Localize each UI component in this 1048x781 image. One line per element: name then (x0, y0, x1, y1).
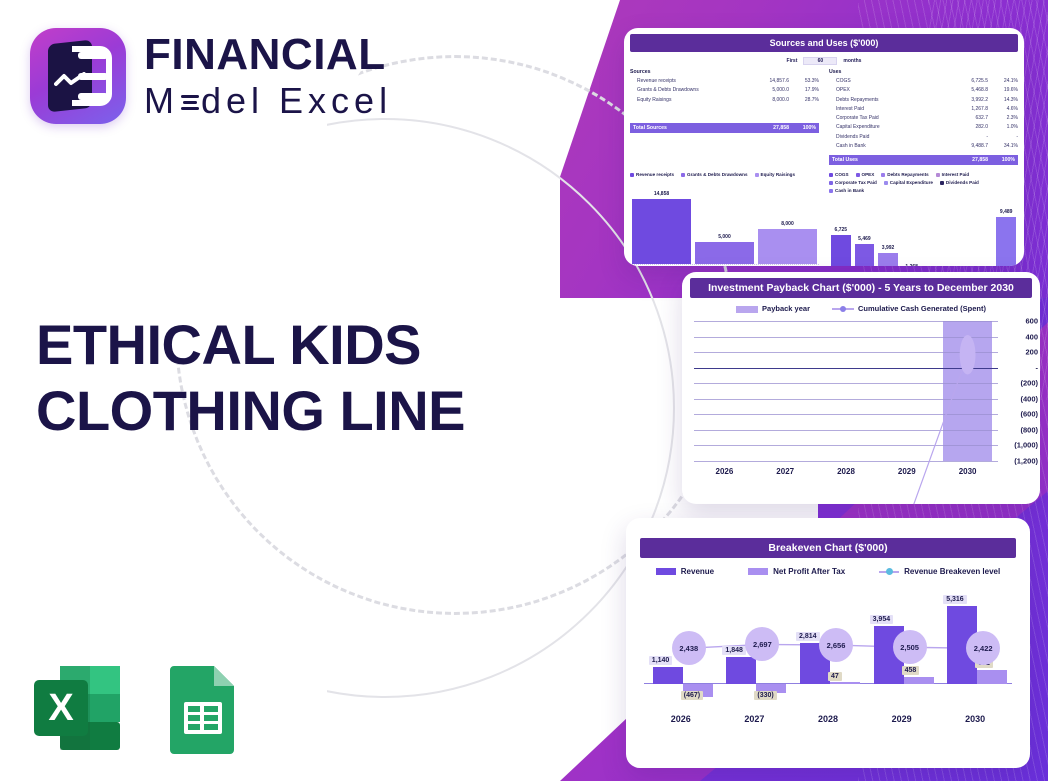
net-profit-value-label: 47 (828, 672, 842, 681)
revenue-value-label: 3,954 (870, 615, 894, 624)
sources-bars: 14,8585,0008,000 (630, 181, 819, 265)
table-row: Interest Paid1,267.84.6% (829, 105, 1018, 114)
row-percent: 53.3% (789, 77, 819, 86)
uses-bars: 6,7255,4693,9921,26863328209,489 (829, 197, 1018, 266)
row-value: - (948, 133, 988, 142)
list-lines-icon (78, 52, 108, 100)
period-selector-row: First 60 months (624, 57, 1024, 65)
legend-swatch (884, 181, 888, 185)
sources-spacer (630, 105, 819, 119)
legend-item: Cash in Bank (829, 188, 864, 193)
row-label: Equity Raisings (630, 96, 749, 105)
row-percent: 2.3% (988, 114, 1018, 123)
row-label: Dividends Paid (829, 133, 948, 142)
legend-swatch (829, 181, 833, 185)
bar-group: 3,992 (878, 197, 898, 266)
sources-uses-title: Sources and Uses ($'000) (630, 34, 1018, 52)
investment-payback-card: Investment Payback Chart ($'000) - 5 Yea… (682, 272, 1040, 504)
table-row: Cash in Bank9,488.734.1% (829, 142, 1018, 151)
legend-label: Cash in Bank (835, 188, 864, 193)
uses-header: Uses (829, 69, 1018, 75)
breakeven-legend-npat: Net Profit After Tax (748, 567, 845, 576)
y-tick-label: (200) (1020, 379, 1038, 388)
legend-label: Equity Raisings (761, 172, 795, 177)
legend-swatch (829, 189, 833, 193)
revenue-bar (653, 667, 683, 684)
uses-chart-legend: COGSOPEXDebts RepaymentsInterest PaidCor… (829, 172, 1018, 193)
data-point (960, 335, 976, 375)
bar-value-label: 5,469 (858, 236, 871, 242)
revenue-value-label: 1,848 (722, 646, 746, 655)
legend-item: Dividends Paid (940, 180, 979, 185)
y-tick-label: (600) (1020, 410, 1038, 419)
legend-swatch (755, 173, 759, 177)
legend-item: COGS (829, 172, 849, 177)
bar (855, 244, 875, 266)
table-row: Revenue receipts14,857.653.3% (630, 77, 819, 86)
breakeven-legend-revenue: Revenue (656, 567, 714, 576)
legend-label: Debts Repayments (887, 172, 928, 177)
bar-value-label: 14,858 (654, 191, 669, 197)
legend-label: OPEX (862, 172, 875, 177)
bar (831, 235, 851, 266)
row-percent: 14.3% (988, 96, 1018, 105)
row-label: Revenue receipts (630, 77, 749, 86)
row-value: 282.0 (948, 123, 988, 132)
breakeven-legend-npat-label: Net Profit After Tax (773, 567, 845, 576)
sources-total-label: Total Sources (630, 125, 749, 131)
row-label: COGS (829, 77, 948, 86)
table-row: Equity Raisings8,000.028.7% (630, 96, 819, 105)
row-value: 14,857.6 (749, 77, 789, 86)
row-value: 632.7 (948, 114, 988, 123)
uses-table: Uses COGS6,725.524.1%OPEX5,468.819.6%Deb… (829, 69, 1018, 165)
row-value: 9,488.7 (948, 142, 988, 151)
revenue-bar (726, 657, 756, 684)
revenue-value-label: 5,316 (943, 595, 967, 604)
row-label: Capital Expenditure (829, 123, 948, 132)
band-swatch (736, 306, 758, 313)
bar-value-label: 6,725 (835, 227, 848, 233)
legend-swatch (829, 173, 833, 177)
row-percent: 24.1% (988, 77, 1018, 86)
legend-item: Equity Raisings (755, 172, 795, 177)
y-tick-label: - (1036, 363, 1039, 372)
brand-wordmark: FINANCIAL Mdel Excel (144, 33, 392, 119)
sources-total-value: 27,858 (749, 125, 789, 131)
brand-o-bars-icon (179, 90, 201, 116)
bar (632, 199, 691, 264)
page-title: ETHICAL KIDS CLOTHING LINE (36, 312, 556, 444)
net-profit-bar (977, 670, 1007, 684)
row-percent: 1.0% (988, 123, 1018, 132)
poster-canvas: FINANCIAL Mdel Excel ETHICAL KIDS CLOTHI… (0, 0, 1048, 781)
sources-total-pct: 100% (789, 125, 819, 131)
uses-total-pct: 100% (988, 157, 1018, 163)
payback-title: Investment Payback Chart ($'000) - 5 Yea… (690, 278, 1032, 298)
bar-value-label: 5,000 (718, 234, 731, 240)
payback-legend-line-label: Cumulative Cash Generated (Spent) (858, 304, 986, 313)
row-percent: 28.7% (789, 96, 819, 105)
legend-item: OPEX (856, 172, 875, 177)
uses-total-value: 27,858 (948, 157, 988, 163)
legend-swatch (936, 173, 940, 177)
headline-line-2: CLOTHING LINE (36, 378, 556, 444)
microsoft-excel-icon: X (30, 660, 128, 756)
row-label: Interest Paid (829, 105, 948, 114)
payback-legend-line: Cumulative Cash Generated (Spent) (832, 304, 986, 313)
revenue-value-label: 1,140 (649, 656, 673, 665)
bar-group: 633 (926, 197, 946, 266)
legend-item: Revenue receipts (630, 172, 674, 177)
sources-chart-legend: Revenue receiptsGrants & Debts Drawdowns… (630, 172, 819, 177)
breakeven-card: Breakeven Chart ($'000) Revenue Net Prof… (626, 518, 1030, 768)
breakeven-legend: Revenue Net Profit After Tax Revenue Bre… (626, 567, 1030, 576)
legend-swatch (881, 173, 885, 177)
bar-group: 6,725 (831, 197, 851, 266)
breakeven-x-axis-labels: 20262027202820292030 (644, 714, 1012, 724)
breakeven-legend-revenue-label: Revenue (681, 567, 714, 576)
bar-group: 8,000 (758, 181, 817, 264)
x-tick-label: 2027 (718, 714, 792, 724)
breakeven-legend-level: Revenue Breakeven level (879, 567, 1000, 576)
breakeven-marker: 2,438 (672, 631, 706, 665)
row-percent: 19.6% (988, 86, 1018, 95)
brand-line-2: Mdel Excel (144, 83, 392, 119)
table-row: Dividends Paid-- (829, 133, 1018, 142)
payback-y-axis-labels: 600400200-(200)(400)(600)(800)(1,000)(1,… (998, 321, 1038, 461)
payback-legend-band-label: Payback year (762, 304, 810, 313)
y-tick-label: (1,000) (1014, 441, 1038, 450)
months-label: months (843, 58, 861, 64)
bar-value-label: 1,268 (905, 264, 918, 266)
legend-label: Corporate Tax Paid (835, 180, 877, 185)
table-row: OPEX5,468.819.6% (829, 86, 1018, 95)
row-label: Grants & Debts Drawdowns (630, 86, 749, 95)
bar (695, 242, 754, 264)
table-row: Capital Expenditure282.01.0% (829, 123, 1018, 132)
brand-line-2-post: del Excel (201, 80, 392, 121)
table-row: Debts Repayments3,992.214.3% (829, 96, 1018, 105)
table-row: Grants & Debts Drawdowns5,000.017.9% (630, 86, 819, 95)
legend-label: Dividends Paid (946, 180, 979, 185)
x-tick-label: 2028 (791, 714, 865, 724)
breakeven-marker: 2,505 (893, 630, 927, 664)
row-value: 1,267.8 (948, 105, 988, 114)
payback-legend: Payback year Cumulative Cash Generated (… (682, 304, 1040, 313)
sources-and-uses-card: Sources and Uses ($'000) First 60 months… (624, 28, 1024, 266)
row-percent: - (988, 133, 1018, 142)
financial-model-document-icon (30, 28, 126, 124)
legend-item: Corporate Tax Paid (829, 180, 877, 185)
npat-swatch (748, 568, 768, 575)
legend-swatch (856, 173, 860, 177)
bar-group: 5,000 (695, 181, 754, 264)
bar (758, 229, 817, 264)
sources-uses-tables: Sources Revenue receipts14,857.653.3%Gra… (624, 69, 1024, 165)
row-value: 5,000.0 (749, 86, 789, 95)
row-label: Corporate Tax Paid (829, 114, 948, 123)
y-tick-label: 600 (1025, 317, 1038, 326)
uses-bar-chart: COGSOPEXDebts RepaymentsInterest PaidCor… (829, 167, 1018, 266)
breakeven-marker: 2,656 (819, 628, 853, 662)
legend-label: COGS (835, 172, 849, 177)
bar-value-label: 3,992 (882, 245, 895, 251)
revenue-value-label: 2,814 (796, 632, 820, 641)
months-input[interactable]: 60 (803, 57, 837, 65)
y-tick-label: 400 (1025, 332, 1038, 341)
row-label: Debts Repayments (829, 96, 948, 105)
google-sheets-icon (164, 660, 240, 756)
row-percent: 17.9% (789, 86, 819, 95)
y-tick-label: (800) (1020, 425, 1038, 434)
bar-group: 14,858 (632, 181, 691, 264)
bar-group: 5,469 (855, 197, 875, 266)
bar-group: 9,489 (996, 197, 1016, 266)
net-profit-bar (904, 677, 934, 684)
bar-group: 282 (949, 197, 969, 266)
sources-uses-charts: Revenue receiptsGrants & Debts Drawdowns… (624, 167, 1024, 266)
net-profit-value-label: (330) (754, 691, 776, 700)
uses-total-label: Total Uses (829, 157, 948, 163)
bar-value-label: 8,000 (781, 221, 794, 227)
bar-group: 1,268 (902, 197, 922, 266)
row-value: 5,468.8 (948, 86, 988, 95)
sources-rows: Revenue receipts14,857.653.3%Grants & De… (630, 77, 819, 105)
payback-line-series (694, 321, 998, 504)
payback-legend-band: Payback year (736, 304, 810, 313)
breakeven-legend-level-label: Revenue Breakeven level (904, 567, 1000, 576)
row-label: Cash in Bank (829, 142, 948, 151)
svg-text:X: X (48, 687, 74, 729)
table-row: Corporate Tax Paid632.72.3% (829, 114, 1018, 123)
bar (996, 217, 1016, 266)
y-tick-label: (1,200) (1014, 457, 1038, 466)
row-percent: 4.6% (988, 105, 1018, 114)
legend-swatch (630, 173, 634, 177)
brand-line-1: FINANCIAL (144, 33, 392, 77)
legend-label: Interest Paid (942, 172, 970, 177)
bar (878, 253, 898, 266)
first-label: First (787, 58, 798, 64)
table-row: COGS6,725.524.1% (829, 77, 1018, 86)
brand-line-2-pre: M (144, 80, 179, 121)
legend-item: Grants & Debts Drawdowns (681, 172, 748, 177)
bar-value-label: 9,489 (1000, 209, 1013, 215)
sources-header: Sources (630, 69, 819, 75)
y-tick-label: (400) (1020, 394, 1038, 403)
brand-logo: FINANCIAL Mdel Excel (30, 28, 392, 124)
net-profit-bar (830, 682, 860, 684)
net-profit-value-label: (467) (681, 691, 703, 700)
headline-line-1: ETHICAL KIDS (36, 312, 556, 378)
x-tick-label: 2026 (644, 714, 718, 724)
breakeven-line-swatch (879, 571, 899, 573)
revenue-swatch (656, 568, 676, 575)
x-tick-label: 2030 (938, 714, 1012, 724)
row-value: 6,725.5 (948, 77, 988, 86)
bar-group: 0 (973, 197, 993, 266)
legend-item: Interest Paid (936, 172, 970, 177)
sources-table: Sources Revenue receipts14,857.653.3%Gra… (630, 69, 819, 165)
legend-item: Debts Repayments (881, 172, 928, 177)
y-tick-label: 200 (1025, 348, 1038, 357)
legend-label: Grants & Debts Drawdowns (687, 172, 748, 177)
file-format-icons: X (30, 660, 240, 756)
x-tick-label: 2029 (865, 714, 939, 724)
payback-plot: 600400200-(200)(400)(600)(800)(1,000)(1,… (694, 321, 998, 461)
uses-rows: COGS6,725.524.1%OPEX5,468.819.6%Debts Re… (829, 77, 1018, 151)
row-label: OPEX (829, 86, 948, 95)
uses-total-row: Total Uses 27,858 100% (829, 155, 1018, 165)
sources-bar-chart: Revenue receiptsGrants & Debts Drawdowns… (630, 167, 819, 266)
line-swatch (832, 308, 854, 310)
sources-total-row: Total Sources 27,858 100% (630, 123, 819, 133)
legend-swatch (681, 173, 685, 177)
row-percent: 34.1% (988, 142, 1018, 151)
row-value: 3,992.2 (948, 96, 988, 105)
row-value: 8,000.0 (749, 96, 789, 105)
breakeven-plot: 1,140(467)2,4381,848(330)2,6972,814472,6… (644, 588, 1012, 706)
breakeven-title: Breakeven Chart ($'000) (640, 538, 1016, 558)
legend-label: Capital Expenditure (890, 180, 933, 185)
legend-swatch (940, 181, 944, 185)
net-profit-value-label: 458 (902, 666, 920, 675)
legend-item: Capital Expenditure (884, 180, 933, 185)
legend-label: Revenue receipts (636, 172, 674, 177)
